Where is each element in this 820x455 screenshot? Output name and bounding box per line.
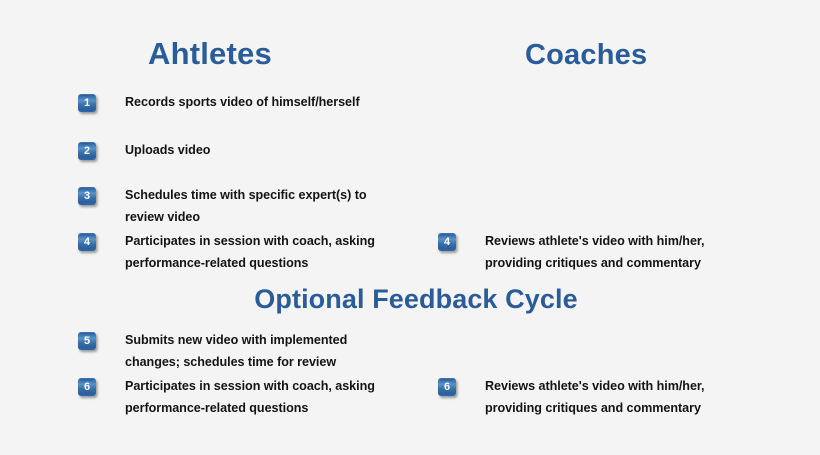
step-row: 4 Participates in session with coach, as…: [78, 232, 408, 274]
step-row: 5 Submits new video with implemented cha…: [78, 331, 408, 373]
step-number-badge: 4: [438, 233, 456, 251]
step-text-line: performance-related questions: [125, 252, 375, 274]
step-number-badge: 1: [78, 94, 96, 112]
step-row: 2 Uploads video: [78, 141, 408, 161]
step-description: Participates in session with coach, aski…: [125, 230, 375, 274]
step-text-line: Participates in session with coach, aski…: [125, 375, 375, 397]
section-heading-optional-feedback-cycle: Optional Feedback Cycle: [0, 284, 820, 315]
step-description: Participates in session with coach, aski…: [125, 375, 375, 419]
column-heading-coaches: Coaches: [525, 39, 647, 72]
step-text-line: Uploads video: [125, 139, 210, 161]
step-text-line: Schedules time with specific expert(s) t…: [125, 184, 367, 206]
step-text-line: changes; schedules time for review: [125, 351, 347, 373]
step-text-line: Reviews athlete's video with him/her,: [485, 230, 705, 252]
step-number-badge: 4: [78, 233, 96, 251]
step-description: Submits new video with implemented chang…: [125, 329, 347, 373]
step-description: Records sports video of himself/herself: [125, 91, 360, 113]
step-text-line: performance-related questions: [125, 397, 375, 419]
step-text-line: Records sports video of himself/herself: [125, 91, 360, 113]
step-number-badge: 6: [438, 378, 456, 396]
step-description: Uploads video: [125, 139, 210, 161]
step-row: 6 Participates in session with coach, as…: [78, 377, 408, 419]
step-description: Reviews athlete's video with him/her, pr…: [485, 375, 705, 419]
step-description: Schedules time with specific expert(s) t…: [125, 184, 367, 228]
step-text-line: review video: [125, 206, 367, 228]
step-description: Reviews athlete's video with him/her, pr…: [485, 230, 705, 274]
step-number-badge: 6: [78, 378, 96, 396]
step-row: 4 Reviews athlete's video with him/her, …: [438, 232, 768, 274]
step-number-badge: 5: [78, 332, 96, 350]
step-number-badge: 2: [78, 142, 96, 160]
step-text-line: providing critiques and commentary: [485, 397, 705, 419]
step-text-line: Participates in session with coach, aski…: [125, 230, 375, 252]
step-text-line: Submits new video with implemented: [125, 329, 347, 351]
process-diagram: Ahtletes Coaches 1 Records sports video …: [0, 0, 820, 455]
step-row: 3 Schedules time with specific expert(s)…: [78, 186, 408, 228]
step-row: 6 Reviews athlete's video with him/her, …: [438, 377, 768, 419]
step-number-badge: 3: [78, 187, 96, 205]
column-heading-athletes: Ahtletes: [148, 36, 272, 72]
step-row: 1 Records sports video of himself/hersel…: [78, 93, 408, 113]
step-text-line: providing critiques and commentary: [485, 252, 705, 274]
step-text-line: Reviews athlete's video with him/her,: [485, 375, 705, 397]
